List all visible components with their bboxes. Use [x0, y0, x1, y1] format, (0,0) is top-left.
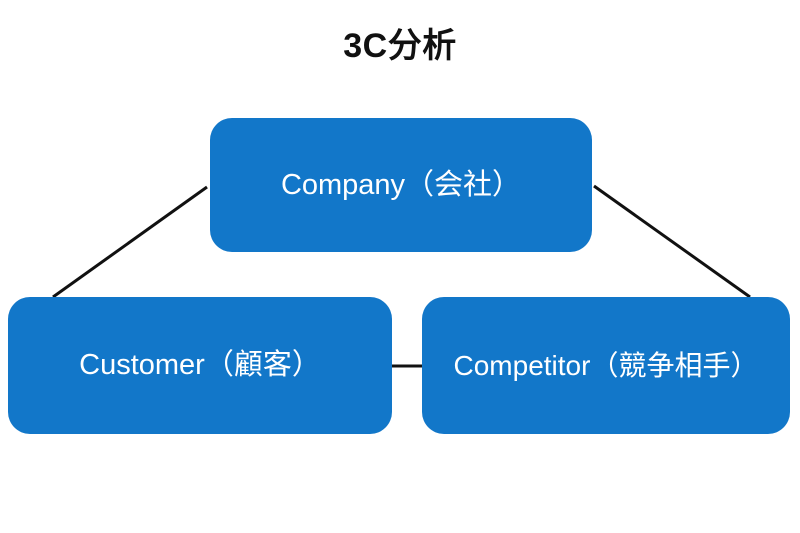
node-company-label: Company（会社）	[281, 168, 521, 203]
node-competitor[interactable]: Competitor（競争相手）	[422, 297, 790, 434]
node-company[interactable]: Company（会社）	[210, 118, 592, 252]
node-customer[interactable]: Customer（顧客）	[8, 297, 392, 434]
connector-company-customer	[53, 187, 207, 297]
connector-company-competitor	[594, 186, 750, 297]
diagram-canvas: 3C分析 Company（会社） Customer（顧客） Competitor…	[0, 0, 800, 533]
page-title: 3C分析	[0, 26, 800, 66]
node-customer-label: Customer（顧客）	[79, 348, 321, 383]
connector-layer	[0, 0, 800, 533]
node-competitor-label: Competitor（競争相手）	[454, 349, 759, 383]
